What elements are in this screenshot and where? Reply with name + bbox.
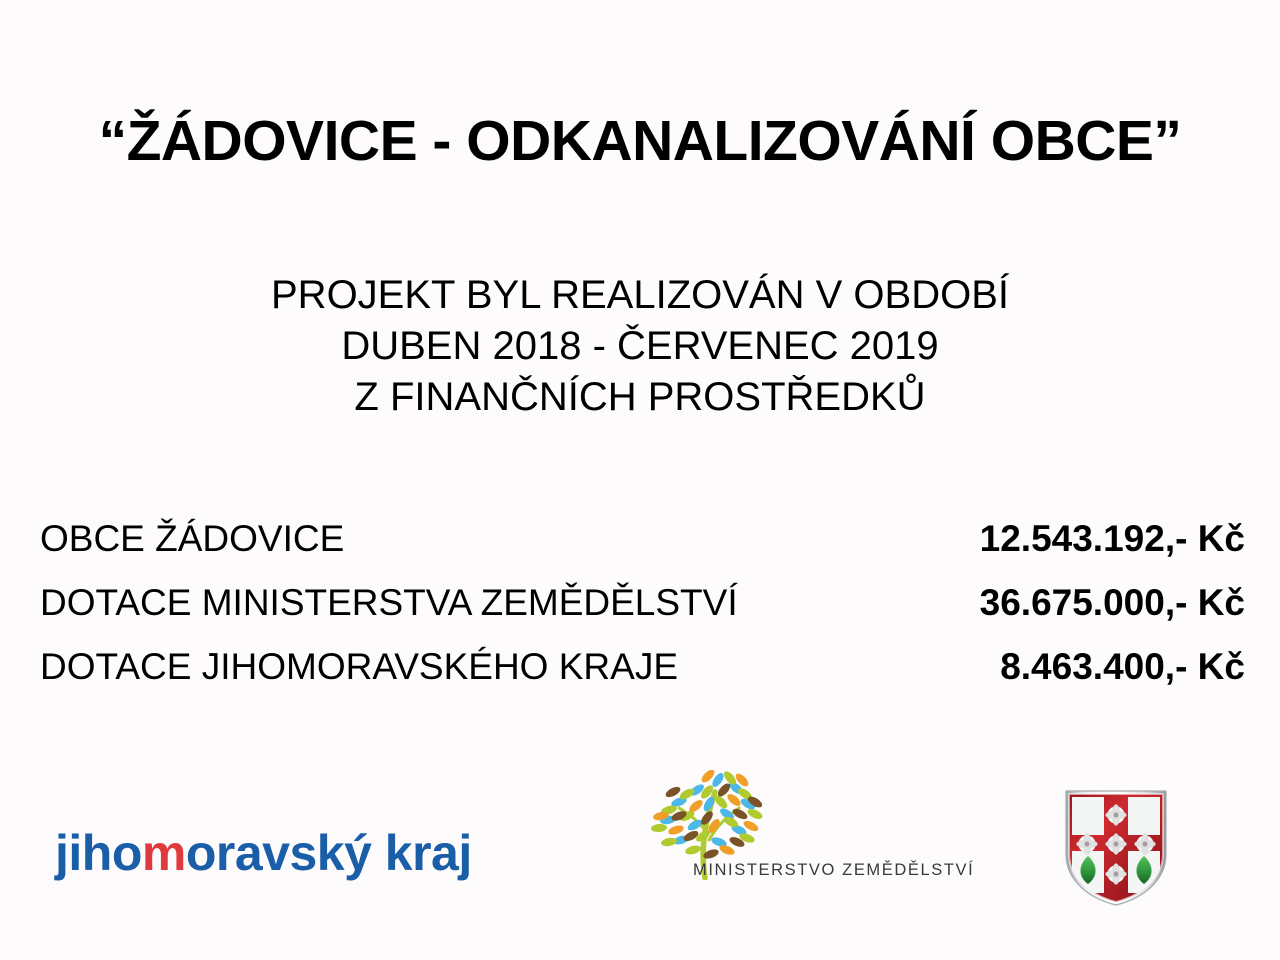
subtitle-line-2: DUBEN 2018 - ČERVENEC 2019 — [0, 321, 1280, 372]
slide-root: “ŽÁDOVICE - ODKANALIZOVÁNÍ OBCE” PROJEKT… — [0, 0, 1280, 960]
ministry-logo-label: MINISTERSTVO ZEMĚDĚLSTVÍ — [693, 861, 974, 880]
jmk-logo-part3: oravský kraj — [186, 825, 472, 881]
table-row: DOTACE MINISTERSTVA ZEMĚDĚLSTVÍ 36.675.0… — [40, 582, 1245, 646]
funding-label: OBCE ŽÁDOVICE — [40, 518, 344, 560]
subtitle-line-3: Z FINANČNÍCH PROSTŘEDKŮ — [0, 372, 1280, 423]
page-title: “ŽÁDOVICE - ODKANALIZOVÁNÍ OBCE” — [0, 112, 1280, 172]
funding-label: DOTACE JIHOMORAVSKÉHO KRAJE — [40, 646, 678, 688]
table-row: DOTACE JIHOMORAVSKÉHO KRAJE 8.463.400,- … — [40, 646, 1245, 710]
funding-amount: 36.675.000,- Kč — [980, 582, 1245, 624]
funding-label: DOTACE MINISTERSTVA ZEMĚDĚLSTVÍ — [40, 582, 738, 624]
jihomoravsky-kraj-logo: jihomoravský kraj — [55, 828, 472, 878]
ministry-of-agriculture-logo: MINISTERSTVO ZEMĚDĚLSTVÍ — [625, 770, 965, 900]
funding-amount: 12.543.192,- Kč — [980, 518, 1245, 560]
coat-of-arms-icon — [1063, 788, 1169, 906]
funding-amount: 8.463.400,- Kč — [1000, 646, 1245, 688]
logo-row: jihomoravský kraj — [0, 770, 1280, 920]
subtitle-line-1: PROJEKT BYL REALIZOVÁN V OBDOBÍ — [0, 270, 1280, 321]
funding-table: OBCE ŽÁDOVICE 12.543.192,- Kč DOTACE MIN… — [40, 518, 1245, 710]
jmk-logo-part2: m — [142, 825, 186, 881]
jmk-logo-part1: jiho — [55, 825, 142, 881]
subtitle-block: PROJEKT BYL REALIZOVÁN V OBDOBÍ DUBEN 20… — [0, 270, 1280, 424]
table-row: OBCE ŽÁDOVICE 12.543.192,- Kč — [40, 518, 1245, 582]
